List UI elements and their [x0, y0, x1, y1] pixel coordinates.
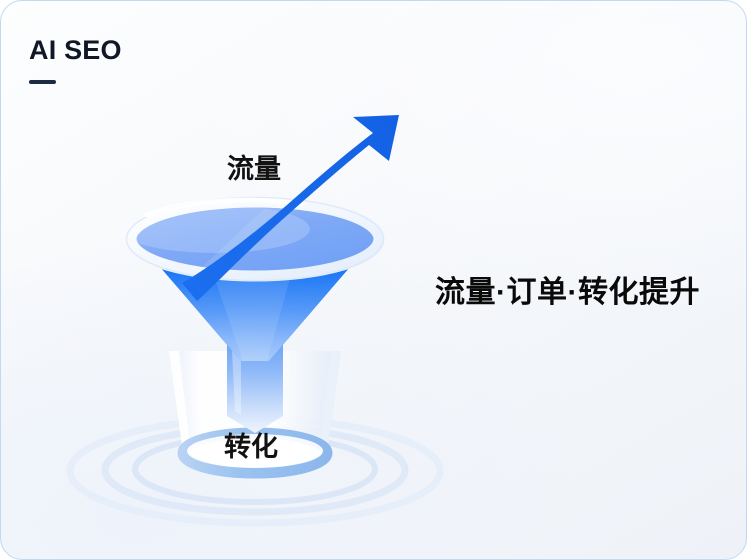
funnel-label-traffic: 流量	[227, 156, 281, 183]
seo-funnel-card: AI SEO	[0, 0, 747, 560]
tagline-text: 流量·订单·转化提升	[435, 275, 700, 311]
funnel-label-conversion: 转化	[224, 434, 278, 461]
